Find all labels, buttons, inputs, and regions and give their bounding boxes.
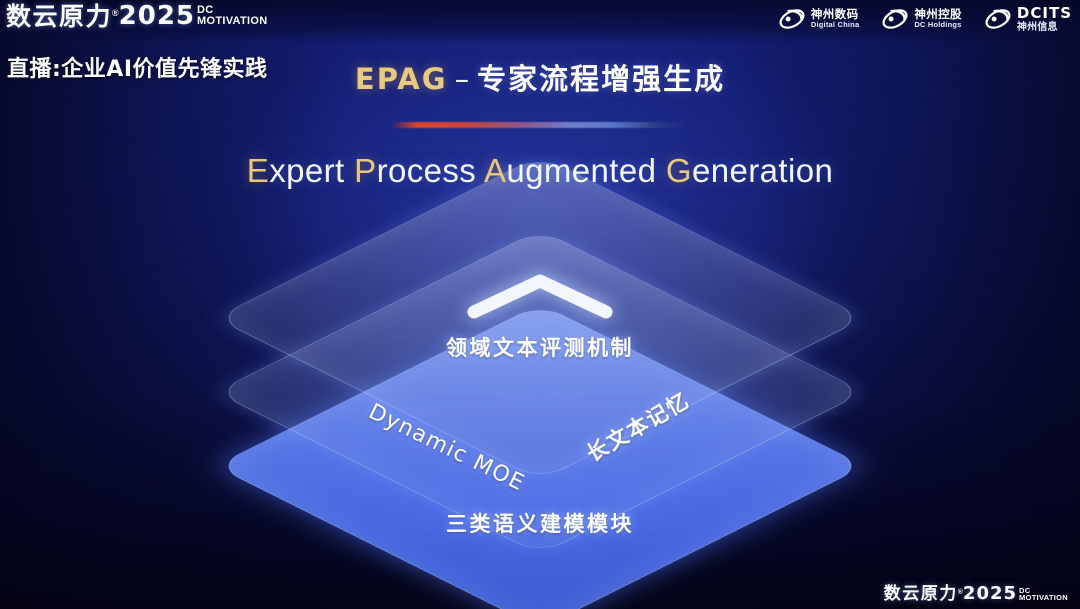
subtitle-word-generation: eneration [692,152,833,189]
spiral-logo-icon [778,5,806,33]
partner-logo-group: 神州数码 Digital China 神州控股 DC Holdings [778,5,1072,33]
subtitle-word-augmented: ugmented [506,152,656,189]
subtitle-initial-g: G [666,152,692,189]
brand-logo-top: 数云原力 ® 2025 DC MOTIVATION [6,3,267,29]
partner-text: DCITS 神州信息 [1017,5,1072,33]
partner-name-cn: DCITS [1017,5,1072,22]
chevron-up-icon [466,272,614,320]
partner-name-en: 神州信息 [1017,22,1072,33]
brand-logo-dc-motivation: DC MOTIVATION [197,5,267,27]
partner-text: 神州数码 Digital China [811,8,859,29]
registered-mark-icon: ® [112,8,119,18]
partner-name-en: Digital China [811,21,859,29]
brand-logo-year: 2025 [963,585,1017,603]
subtitle-initial-a: A [484,152,506,189]
partner-logo-dcits: DCITS 神州信息 [984,5,1072,33]
subtitle-initial-p: P [354,152,376,189]
title-dash: – [455,62,471,96]
spiral-logo-icon [984,5,1012,33]
subtitle-initial-e: E [247,152,269,189]
layer-bottom-label: 三类语义建模模块 [0,508,1080,538]
partner-name-en: DC Holdings [914,21,962,29]
partner-logo-dc-holdings: 神州控股 DC Holdings [881,5,962,33]
title-divider [390,122,690,128]
title-chinese: 专家流程增强生成 [477,62,725,96]
brand-logo-year: 2025 [119,3,195,29]
partner-logo-digital-china: 神州数码 Digital China [778,5,859,33]
page-subtitle: Expert Process Augmented Generation [0,152,1080,190]
brand-logo-dc-motivation: DC MOTIVATION [1019,587,1068,602]
title-acronym: EPAG [355,62,448,96]
registered-mark-icon: ® [958,589,963,596]
partner-text: 神州控股 DC Holdings [914,8,962,29]
brand-logo-chinese: 数云原力 [884,586,958,603]
subtitle-word-expert: xpert [269,152,344,189]
brand-dc-line2: MOTIVATION [1019,594,1068,602]
livestream-label: 直播:企业AI价值先锋实践 [7,51,268,83]
brand-dc-line2: MOTIVATION [197,16,267,27]
brand-logo-bottom: 数云原力 ® 2025 DC MOTIVATION [884,585,1068,603]
spiral-logo-icon [881,5,909,33]
slide-canvas: 数云原力 ® 2025 DC MOTIVATION 直播:企业AI价值先锋实践 … [0,0,1080,609]
subtitle-word-process: rocess [377,152,477,189]
brand-logo-chinese: 数云原力 [6,4,112,29]
layer-top-label: 领域文本评测机制 [0,332,1080,362]
